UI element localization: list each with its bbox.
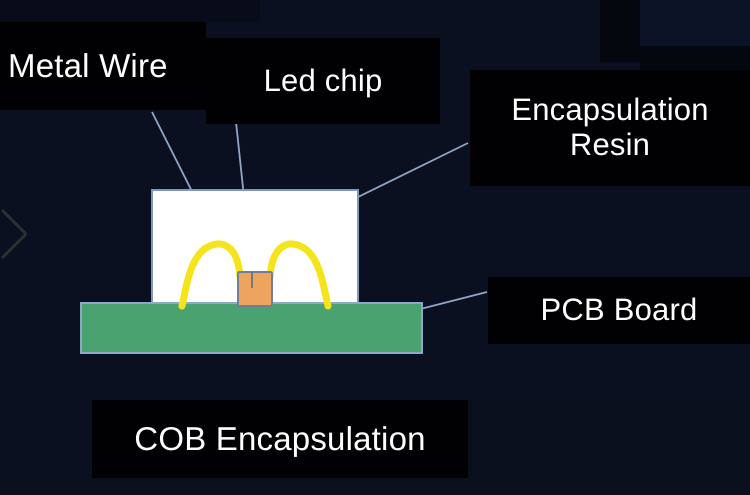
label-metal-wire-text: Metal Wire <box>8 48 168 85</box>
label-metal-wire: Metal Wire <box>0 22 206 110</box>
left-edge-chevron-icon <box>2 210 26 258</box>
label-encapsulation-resin-text: Encapsulation Resin <box>511 93 708 162</box>
led-chip-shape <box>238 272 272 306</box>
label-led-chip-text: Led chip <box>264 64 383 99</box>
label-encapsulation-resin-line2: Resin <box>570 127 650 162</box>
label-pcb-board: PCB Board <box>488 277 750 344</box>
label-pcb-board-text: PCB Board <box>541 293 698 328</box>
label-encapsulation-resin-line1: Encapsulation <box>511 92 708 127</box>
label-led-chip: Led chip <box>206 38 440 124</box>
label-cob-encapsulation: COB Encapsulation <box>92 400 468 478</box>
label-cob-encapsulation-text: COB Encapsulation <box>134 421 425 458</box>
pcb-board-shape <box>81 303 422 353</box>
diagram-canvas: Metal Wire Led chip Encapsulation Resin … <box>0 0 750 495</box>
label-encapsulation-resin: Encapsulation Resin <box>470 70 750 186</box>
